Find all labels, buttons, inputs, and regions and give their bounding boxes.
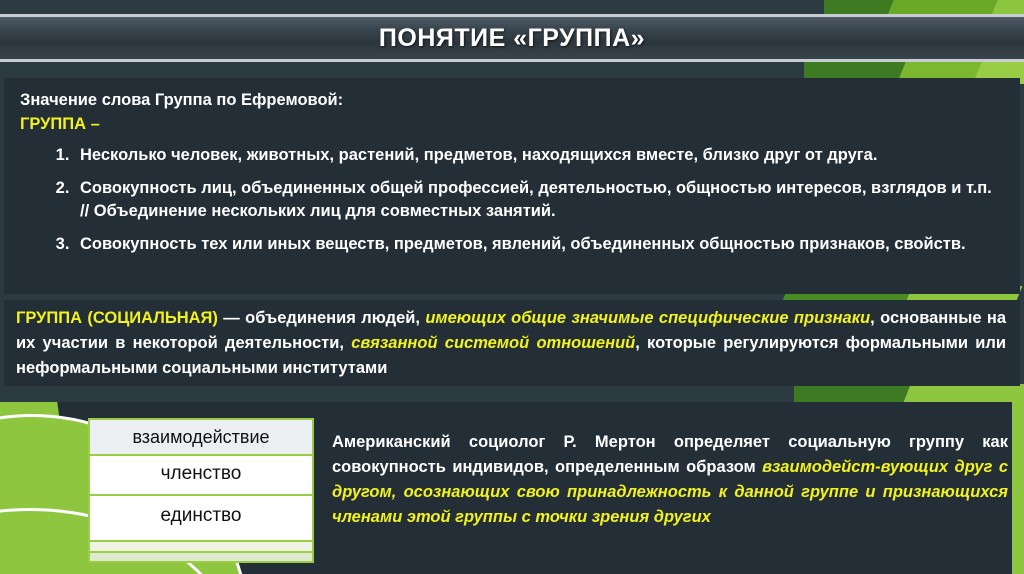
diagram-label-membership: членство <box>88 456 314 496</box>
slide-title-bar: ПОНЯТИЕ «ГРУППА» <box>0 14 1024 62</box>
merton-paragraph: Американский социолог Р. Мертон определя… <box>332 430 1008 530</box>
definition-panel-efremova: Значение слова Группа по Ефремовой: ГРУП… <box>4 78 1020 294</box>
diagram-label-interaction: взаимодействие <box>88 418 314 456</box>
definition-term-gruppa: ГРУППА – <box>20 112 1004 136</box>
list-item: Совокупность тех или иных веществ, предм… <box>74 233 1004 256</box>
social-group-emphasis-1: имеющих общие значимые специфические при… <box>425 309 870 327</box>
definition-list: Несколько человек, животных, растений, п… <box>20 144 1004 256</box>
definition-lead-text: Значение слова Группа по Ефремовой: <box>20 88 1004 112</box>
diagram-label-partial-1 <box>88 542 314 553</box>
slide-root: ПОНЯТИЕ «ГРУППА» Значение слова Группа п… <box>0 0 1024 574</box>
social-group-emphasis-2: связанной системой отношений <box>351 334 635 352</box>
diagram-label-unity: единство <box>88 496 314 542</box>
page-title: ПОНЯТИЕ «ГРУППА» <box>379 24 645 53</box>
list-item: Совокупность лиц, объединенных общей про… <box>74 177 1004 223</box>
social-group-part1: объединения людей, <box>245 309 425 327</box>
definition-panel-social-group: ГРУППА (СОЦИАЛЬНАЯ) — объединения людей,… <box>4 300 1020 386</box>
list-item: Несколько человек, животных, растений, п… <box>74 144 1004 167</box>
green-ribbon-lower-icon <box>794 384 1024 402</box>
social-group-dash: — <box>218 309 245 327</box>
diagram-label-partial-2 <box>88 553 314 563</box>
diagram-label-stack: взаимодействие членство единство <box>88 418 314 563</box>
social-group-paragraph: ГРУППА (СОЦИАЛЬНАЯ) — объединения людей,… <box>16 306 1006 381</box>
social-group-term: ГРУППА (СОЦИАЛЬНАЯ) <box>16 309 218 327</box>
merton-quote-panel: Американский социолог Р. Мертон определя… <box>330 424 1010 574</box>
